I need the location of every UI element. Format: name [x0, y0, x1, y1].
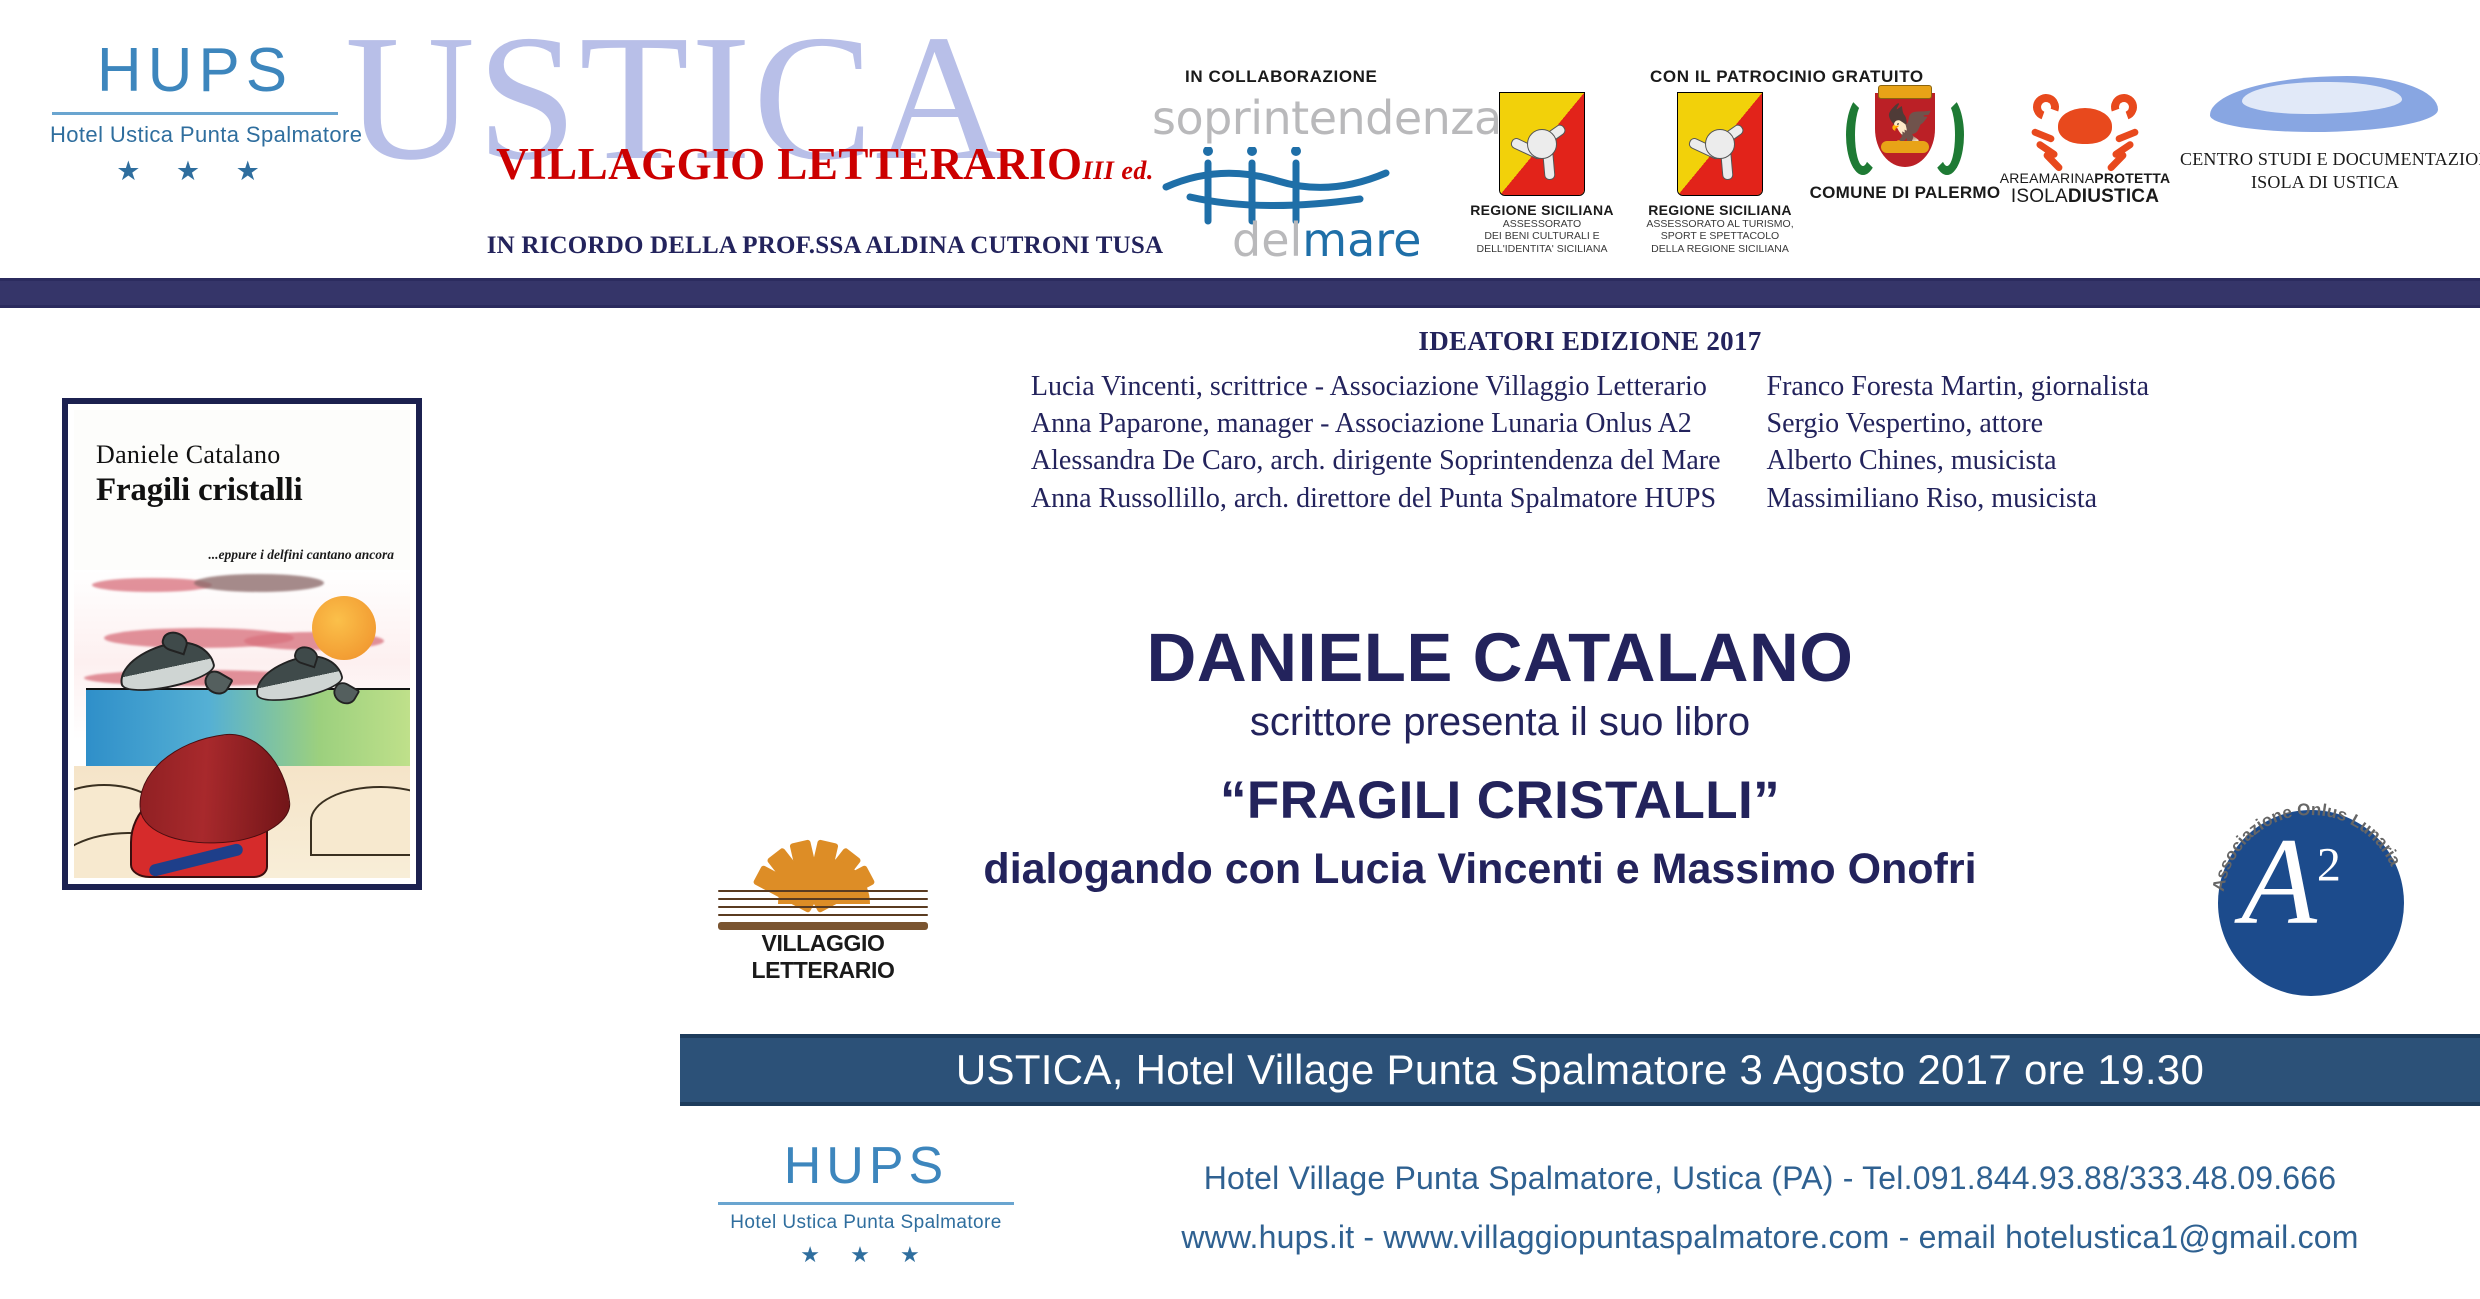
banner-left-filler [0, 1034, 680, 1106]
regione-turismo-name: REGIONE SICILIANA [1625, 202, 1815, 218]
amp-line2a: ISOLA [2011, 186, 2068, 207]
patronage-caption: CON IL PATROCINIO GRATUITO [1650, 67, 1924, 87]
list-item: Sergio Vespertino, attore [1767, 405, 2150, 442]
regione-beniculturali-logo: REGIONE SICILIANA ASSESSORATO DEI BENI C… [1452, 92, 1632, 255]
collaboration-caption: IN COLLABORAZIONE [1185, 67, 1377, 87]
regione-beniculturali-name: REGIONE SICILIANA [1452, 202, 1632, 218]
list-item: Alessandra De Caro, arch. dirigente Sopr… [1031, 442, 1721, 479]
list-item: Lucia Vincenti, scrittrice - Associazion… [1031, 368, 1721, 405]
soprintendenza-word: soprintendenza [1152, 95, 1462, 141]
regione-turismo-sub1: ASSESSORATO AL TURISMO, [1625, 218, 1815, 230]
crab-icon [2029, 86, 2141, 170]
palermo-crest-icon: 🦅 [1846, 85, 1964, 181]
ideatori-right-column: Franco Foresta Martin, giornalista Sergi… [1767, 368, 2150, 517]
hups-wordmark: HUPS [716, 1140, 1016, 1192]
hups-logo-footer: HUPS Hotel Ustica Punta Spalmatore ★ ★ ★ [716, 1140, 1016, 1268]
amp-line2b: DIUSTICA [2068, 186, 2159, 207]
list-item: Alberto Chines, musicista [1767, 442, 2150, 479]
dolphin-icon [118, 644, 214, 688]
book-cover: Daniele Catalano Fragili cristalli ...ep… [62, 398, 422, 890]
regione-turismo-logo: REGIONE SICILIANA ASSESSORATO AL TURISMO… [1625, 92, 1815, 255]
list-item: Anna Russollillo, arch. direttore del Pu… [1031, 480, 1721, 517]
area-marina-line1: AREAMARINAPROTETTA [1995, 170, 2175, 186]
main-presents-line: scrittore presenta il suo libro [760, 700, 2240, 745]
hups-wordmark: HUPS [50, 40, 340, 102]
book-cover-illustration [74, 570, 410, 878]
villaggio-letterario-label: VILLAGGIO LETTERARIO [710, 930, 936, 984]
book-cover-title: Fragili cristalli [96, 472, 302, 509]
regione-beniculturali-sub2: DEI BENI CULTURALI E [1452, 230, 1632, 242]
regione-beniculturali-sub3: DELL'IDENTITA' SICILIANA [1452, 243, 1632, 255]
ustica-island-icon [2200, 60, 2450, 148]
contact-line-2: www.hups.it - www.villaggiopuntaspalmato… [1060, 1219, 2480, 1256]
soprintendenza-del: del [1232, 213, 1302, 267]
regione-turismo-sub2: SPORT E SPETTACOLO [1625, 230, 1815, 242]
page-title: VILLAGGIO LETTERARIOIII ed. [485, 138, 1165, 190]
lunaria-ring-text: Associazione Onlus Lunaria [2198, 790, 2424, 1016]
hups-subtitle: Hotel Ustica Punta Spalmatore [716, 1212, 1016, 1234]
hups-divider [718, 1202, 1014, 1205]
regione-beniculturali-sub1: ASSESSORATO [1452, 218, 1632, 230]
list-item: Franco Foresta Martin, giornalista [1767, 368, 2150, 405]
soprintendenza-logo: soprintendenza delmare [1152, 95, 1462, 265]
poster-root: HUPS Hotel Ustica Punta Spalmatore ★ ★ ★… [0, 0, 2480, 1299]
trinacria-shield-icon [1677, 92, 1763, 196]
amp-line1a: AREAMARINA [2000, 170, 2095, 186]
ideatori-left-column: Lucia Vincenti, scrittrice - Associazion… [1031, 368, 1721, 517]
list-item: Massimiliano Riso, musicista [1767, 480, 2150, 517]
hups-logo-header: HUPS Hotel Ustica Punta Spalmatore ★ ★ ★ [50, 40, 340, 187]
ideatori-title: IDEATORI EDIZIONE 2017 [700, 326, 2480, 357]
svg-text:Associazione Onlus Lunaria: Associazione Onlus Lunaria [2209, 800, 2405, 893]
book-cover-tagline: ...eppure i delfini cantano ancora [208, 547, 394, 563]
main-dialogue-line: dialogando con Lucia Vincenti e Massimo … [700, 845, 2260, 894]
contact-line-1: Hotel Village Punta Spalmatore, Ustica (… [1060, 1160, 2480, 1197]
contact-block: Hotel Village Punta Spalmatore, Ustica (… [1060, 1160, 2480, 1256]
ideatori-columns: Lucia Vincenti, scrittrice - Associazion… [700, 368, 2480, 517]
main-author-name: DANIELE CATALANO [760, 618, 2240, 697]
comune-palermo-logo: 🦅 COMUNE DI PALERMO [1805, 85, 2005, 203]
book-cover-inner: Daniele Catalano Fragili cristalli ...ep… [74, 410, 410, 878]
hups-stars: ★ ★ ★ [50, 156, 340, 187]
hups-subtitle: Hotel Ustica Punta Spalmatore [50, 122, 340, 148]
soprintendenza-delmare: delmare [1232, 217, 1421, 263]
hups-stars: ★ ★ ★ [716, 1242, 1016, 1268]
venue-banner-text: USTICA, Hotel Village Punta Spalmatore 3… [680, 1038, 2480, 1102]
header: HUPS Hotel Ustica Punta Spalmatore ★ ★ ★… [0, 0, 2480, 278]
list-item: Anna Paparone, manager - Associazione Lu… [1031, 405, 1721, 442]
comune-palermo-name: COMUNE DI PALERMO [1805, 183, 2005, 203]
trinacria-shield-icon [1499, 92, 1585, 196]
lunaria-logo: A2 Associazione Onlus Lunaria [2198, 790, 2424, 1016]
villaggio-letterario-logo: VILLAGGIO LETTERARIO [718, 788, 928, 948]
open-book-icon [718, 884, 928, 930]
centro-studi-line2: ISOLA DI USTICA [2180, 171, 2470, 194]
main-book-title: “FRAGILI CRISTALLI” [760, 770, 2240, 831]
memorial-line: IN RICORDO DELLA PROF.SSA ALDINA CUTRONI… [435, 232, 1215, 260]
area-marina-line2: ISOLADIUSTICA [1995, 186, 2175, 208]
book-cover-author: Daniele Catalano [96, 440, 281, 470]
regione-turismo-sub3: DELLA REGIONE SICILIANA [1625, 243, 1815, 255]
soprintendenza-mare: mare [1302, 213, 1421, 267]
hups-divider [52, 112, 338, 115]
venue-banner: USTICA, Hotel Village Punta Spalmatore 3… [680, 1034, 2480, 1106]
centro-studi-line1: CENTRO STUDI E DOCUMENTAZIONE [2180, 148, 2470, 171]
dolphin-icon [254, 658, 342, 698]
amp-line1b: PROTETTA [2094, 170, 2170, 186]
sun-icon [312, 596, 376, 660]
centro-studi-logo: CENTRO STUDI E DOCUMENTAZIONE ISOLA DI U… [2180, 60, 2470, 193]
header-divider-band [0, 278, 2480, 308]
area-marina-logo: AREAMARINAPROTETTA ISOLADIUSTICA [1995, 86, 2175, 208]
event-edition-text: III ed. [1082, 156, 1153, 185]
event-title-text: VILLAGGIO LETTERARIO [496, 139, 1082, 189]
